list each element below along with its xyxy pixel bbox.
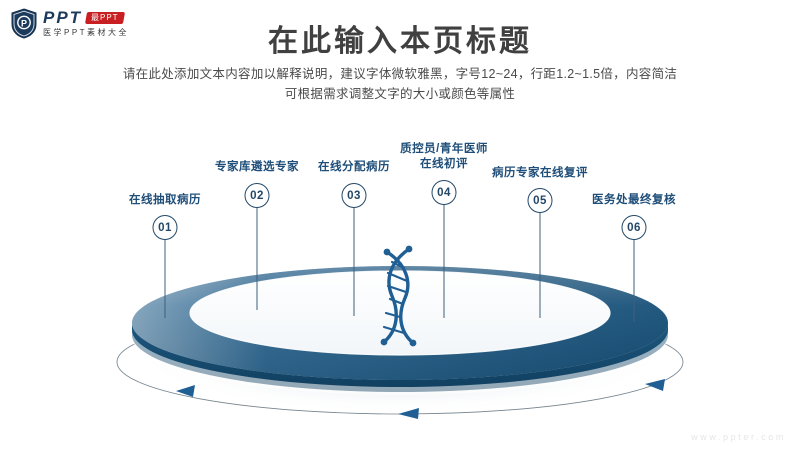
- page-subtitle: 请在此处添加文本内容加以解释说明，建议字体微软雅黑，字号12~24，行距1.2~…: [0, 64, 800, 104]
- orbit-arrow-left: [176, 385, 195, 397]
- orbit-arrow-bottom: [398, 408, 419, 419]
- step-label-02: 专家库遴选专家: [215, 160, 299, 175]
- slide-canvas: P PPT 最PPT 医学PPT素材大全 在此输入本页标题 请在此处添加文本内容…: [0, 0, 800, 450]
- platform-inner-disc: [190, 271, 610, 355]
- step-label-02-line1: 专家库遴选专家: [215, 161, 299, 173]
- step-stem-01: [165, 240, 166, 318]
- step-number-06[interactable]: 06: [622, 215, 647, 240]
- step-stem-03: [354, 208, 355, 316]
- step-label-04-line1: 质控员/青年医师: [400, 143, 488, 155]
- step-number-05[interactable]: 05: [528, 188, 553, 213]
- step-stem-02: [257, 208, 258, 310]
- step-number-01[interactable]: 01: [153, 215, 178, 240]
- step-label-05: 病历专家在线复评: [492, 166, 588, 181]
- step-label-01: 在线抽取病历: [129, 193, 201, 208]
- step-number-03[interactable]: 03: [342, 183, 367, 208]
- subtitle-line-1: 请在此处添加文本内容加以解释说明，建议字体微软雅黑，字号12~24，行距1.2~…: [0, 64, 800, 84]
- step-label-05-line1: 病历专家在线复评: [492, 167, 588, 179]
- stage-shadow: [130, 290, 670, 414]
- step-label-03-line1: 在线分配病历: [318, 161, 390, 173]
- step-label-06-line1: 医务处最终复核: [592, 194, 676, 206]
- step-label-04-line2: 在线初评: [420, 158, 468, 170]
- orbit-ellipse-icon: [117, 310, 683, 414]
- orbit-arrow-right: [645, 379, 665, 391]
- step-label-01-line1: 在线抽取病历: [129, 194, 201, 206]
- dna-helix-icon: [381, 246, 417, 347]
- step-number-02[interactable]: 02: [245, 183, 270, 208]
- step-stem-04: [444, 205, 445, 318]
- elliptical-platform-icon: [132, 266, 668, 395]
- footer-watermark: www.ppter.com: [691, 432, 786, 442]
- step-stem-05: [540, 213, 541, 318]
- page-title: 在此输入本页标题: [0, 16, 800, 60]
- step-label-03: 在线分配病历: [318, 160, 390, 175]
- step-label-04: 质控员/青年医师 在线初评: [400, 142, 488, 172]
- step-stem-06: [634, 240, 635, 322]
- step-label-06: 医务处最终复核: [592, 193, 676, 208]
- subtitle-line-2: 可根据需求调整文字的大小或颜色等属性: [0, 84, 800, 104]
- step-number-04[interactable]: 04: [432, 180, 457, 205]
